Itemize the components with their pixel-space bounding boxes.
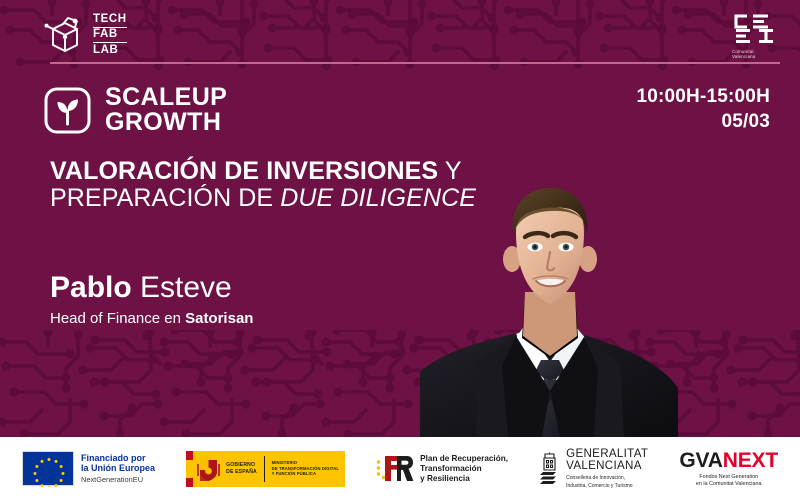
- tfl-line-3: LAB: [93, 42, 127, 58]
- gva-next-wordmark: GVANEXT: [679, 450, 778, 472]
- gva-sub-line-1: Conselleria de Innovación,: [566, 475, 648, 481]
- eu-line-2: la Unión Europea: [81, 463, 155, 473]
- event-poster: TECH FAB LAB Comunitat Valenciana: [0, 0, 800, 500]
- title-italic: DUE DILIGENCE: [280, 184, 476, 212]
- ceei-wordmark-icon: [732, 13, 776, 48]
- speaker-block: Pablo Esteve Head of Finance en Satorisa…: [50, 271, 253, 329]
- speaker-role-prefix: Head of Finance en: [50, 310, 181, 327]
- tfl-line-1: TECH: [93, 12, 127, 27]
- plan-line-3: y Resiliencia: [420, 474, 508, 484]
- speaker-role: Head of Finance en Satorisan: [50, 309, 253, 329]
- header-divider: [50, 62, 780, 64]
- ceei-subtitle: Comunitat Valenciana: [732, 49, 776, 60]
- eu-line-1: Financiado por: [81, 453, 155, 463]
- tech-fab-lab-wordmark: TECH FAB LAB: [93, 12, 127, 58]
- gobierno-line-2: DE ESPAÑA: [226, 469, 257, 475]
- title-light: PREPARACIÓN DE: [50, 184, 273, 212]
- tfl-line-2: FAB: [93, 27, 127, 43]
- plan-line-2: Transformación: [420, 464, 508, 474]
- poster-header: TECH FAB LAB Comunitat Valenciana: [0, 0, 800, 64]
- generalitat-valenciana-crest-icon: [539, 452, 560, 485]
- speaker-name: Pablo Esteve: [50, 271, 253, 305]
- european-union-flag-icon: [22, 451, 74, 486]
- plan-recuperacion-text: Plan de Recuperación, Transformación y R…: [420, 454, 508, 484]
- event-date: 05/03: [636, 109, 770, 134]
- ministerio-line-3: Y FUNCIÓN PÚBLICA: [272, 471, 339, 476]
- spain-flag-stripe-icon: [186, 451, 193, 487]
- ceei-logo: Comunitat Valenciana: [732, 13, 776, 60]
- scaleup-growth-wordmark: SCALEUP GROWTH: [105, 85, 227, 135]
- gva-next-black: GVA: [679, 449, 722, 472]
- gobierno-line-1: GOBIERNO: [226, 462, 257, 468]
- speaker-portrait: [420, 186, 680, 437]
- speaker-first-name: Pablo: [50, 271, 132, 304]
- gva-next-red: NEXT: [723, 449, 778, 472]
- speaker-company: Satorisan: [185, 310, 253, 327]
- gva-next-subtitle: Fondos Next Generation en la Comunitat V…: [679, 474, 778, 488]
- page-title: VALORACIÓN DE INVERSIONES Y PREPARACIÓN …: [50, 158, 476, 212]
- gobierno-wordmark: GOBIERNO DE ESPAÑA: [226, 462, 257, 474]
- gva-line-2: VALENCIANA: [566, 460, 648, 473]
- gva-next-sub-line-1: Fondos Next Generation: [679, 474, 778, 481]
- title-bold: VALORACIÓN DE INVERSIONES: [50, 157, 438, 185]
- ministerio-wordmark: MINISTERIO DE TRANSFORMACIÓN DIGITAL Y F…: [272, 460, 339, 476]
- scaleup-growth-logo: SCALEUP GROWTH: [44, 85, 227, 135]
- tech-fab-lab-logo: TECH FAB LAB: [44, 12, 127, 58]
- gva-next-sub-line-2: en la Comunitat Valenciana: [679, 481, 778, 488]
- title-line-1: VALORACIÓN DE INVERSIONES Y: [50, 158, 476, 185]
- title-conjunction: Y: [445, 157, 462, 185]
- gobierno-divider: [264, 456, 265, 482]
- event-time: 10:00H-15:00H: [636, 84, 770, 109]
- spain-coat-of-arms-icon: [197, 456, 220, 482]
- plan-line-1: Plan de Recuperación,: [420, 454, 508, 464]
- scaleup-line-2: GROWTH: [105, 110, 227, 135]
- ceei-sub-line-2: Valenciana: [732, 54, 776, 59]
- footer-logo-bar: Financiado por la Unión Europea NextGene…: [0, 437, 800, 500]
- eu-subline: NextGenerationEU: [81, 475, 155, 484]
- plan-recuperacion-monogram-icon: [376, 453, 414, 484]
- gobierno-de-espana-logo: GOBIERNO DE ESPAÑA MINISTERIO DE TRANSFO…: [186, 451, 345, 487]
- schedule-block: 10:00H-15:00H 05/03: [636, 84, 770, 134]
- plan-recuperacion-logo: Plan de Recuperación, Transformación y R…: [376, 453, 508, 484]
- circuit-pattern-bottom: [0, 330, 800, 440]
- speaker-last-name: Esteve: [140, 271, 232, 304]
- eu-funding-logo: Financiado por la Unión Europea NextGene…: [22, 451, 155, 486]
- gva-next-logo: GVANEXT Fondos Next Generation en la Com…: [679, 450, 778, 488]
- generalitat-valenciana-logo: GENERALITAT VALENCIANA Conselleria de In…: [539, 448, 648, 490]
- sprout-in-rounded-square-icon: [44, 87, 91, 134]
- gva-sub-line-2: Industria, Comercio y Turismo: [566, 483, 648, 489]
- open-box-circuit-icon: [44, 15, 86, 55]
- eu-funding-text: Financiado por la Unión Europea NextGene…: [81, 453, 155, 484]
- title-line-2: PREPARACIÓN DE DUE DILIGENCE: [50, 185, 476, 212]
- scaleup-line-1: SCALEUP: [105, 85, 227, 110]
- generalitat-valenciana-text: GENERALITAT VALENCIANA Conselleria de In…: [566, 448, 648, 490]
